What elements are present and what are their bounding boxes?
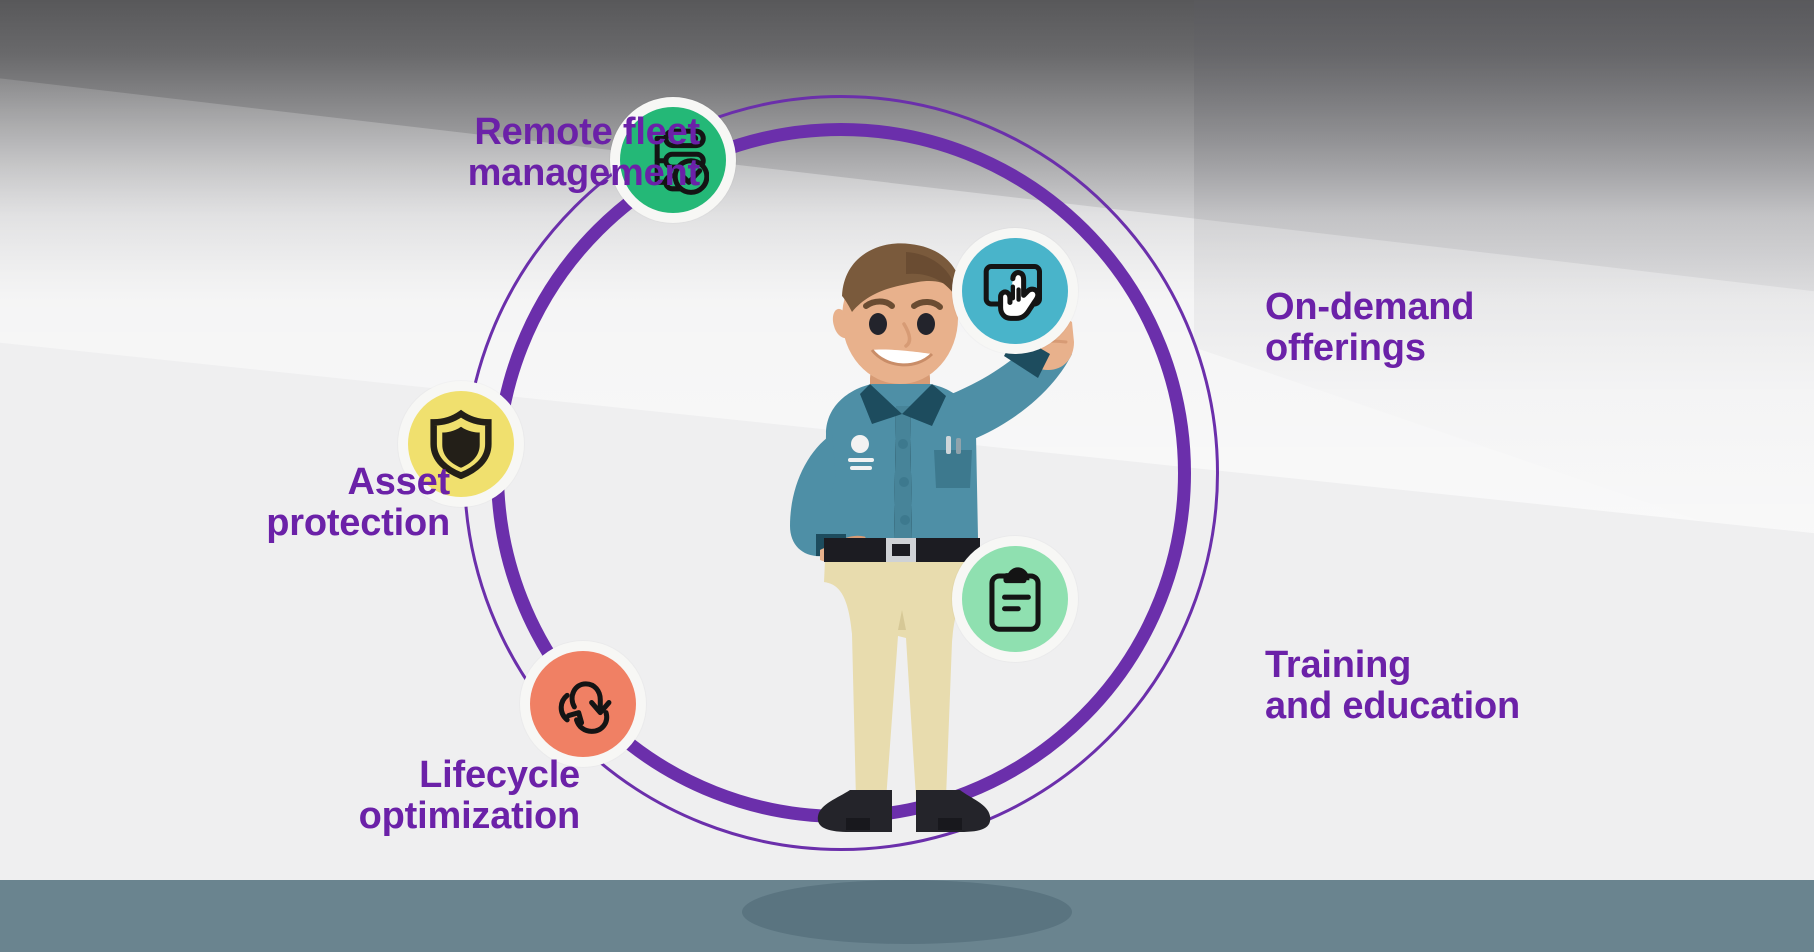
label-remote-fleet-management: Remote fleet management [300, 112, 700, 193]
label-training-and-education: Training and education [1265, 645, 1705, 726]
label-on-demand-offerings: On-demand offerings [1265, 287, 1685, 368]
slide-canvas: Remote fleet management On-demand offeri… [0, 0, 1814, 952]
recycle-arrows-icon [547, 668, 619, 740]
node-lifecycle-optimization[interactable] [520, 641, 646, 767]
hand-tap-screen-icon [979, 255, 1051, 327]
label-asset-protection: Asset protection [160, 462, 450, 543]
clipboard-icon [979, 563, 1051, 635]
node-on-demand-offerings[interactable] [952, 228, 1078, 354]
node-circle-on-demand-offerings [962, 238, 1068, 344]
node-training-and-education[interactable] [952, 536, 1078, 662]
node-circle-lifecycle-optimization [530, 651, 636, 757]
label-lifecycle-optimization: Lifecycle optimization [220, 755, 580, 836]
node-circle-training-and-education [962, 546, 1068, 652]
